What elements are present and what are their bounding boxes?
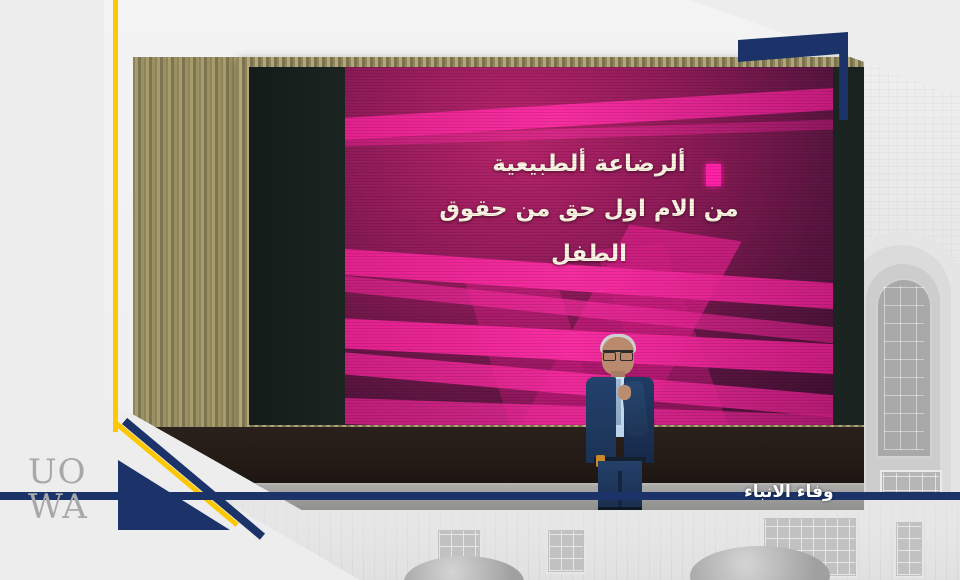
led-screen: ألرضاعة ألطبيعية من الام اول حق من حقوق … (249, 67, 864, 425)
presenter-glasses (603, 350, 633, 357)
presenter-trousers (598, 461, 642, 510)
slide-title-line-3: الطفل (345, 232, 833, 277)
led-bezel-left (249, 67, 345, 425)
stage-back-panel (114, 427, 864, 487)
presenter-figure (580, 337, 658, 510)
screenshot-canvas: ألرضاعة ألطبيعية من الام اول حق من حقوق … (0, 0, 960, 580)
building-arch-window (876, 278, 932, 458)
led-screen-frame: ألرضاعة ألطبيعية من الام اول حق من حقوق … (237, 57, 864, 434)
slide-title-block: ألرضاعة ألطبيعية من الام اول حق من حقوق … (345, 142, 833, 277)
uowa-logo-text: UOWA (28, 455, 88, 524)
yellow-vertical-accent (113, 0, 118, 432)
presenter-hand (618, 385, 631, 400)
slide-title-line-1: ألرضاعة ألطبيعية (345, 142, 833, 187)
uowa-logo: UOWA (28, 455, 88, 524)
led-bezel-right (833, 67, 864, 425)
slide-title-line-2: من الام اول حق من حقوق (345, 187, 833, 232)
presenter-jacket-left (586, 377, 616, 463)
bottom-window (894, 520, 924, 578)
presenter-shoes (598, 507, 642, 510)
press-agency-logo: وفاء الانباء (744, 482, 834, 502)
bottom-window (546, 528, 586, 574)
event-photograph: ألرضاعة ألطبيعية من الام اول حق من حقوق … (104, 0, 864, 510)
